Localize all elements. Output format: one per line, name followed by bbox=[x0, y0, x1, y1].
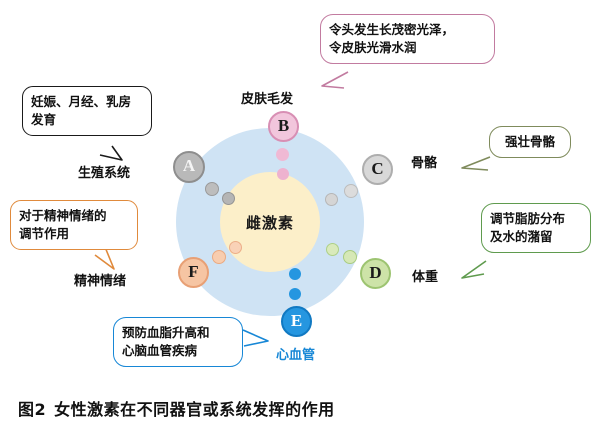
callout-bone[interactable]: 强壮骨骼 bbox=[489, 126, 571, 158]
callout-reproductive[interactable]: 妊娠、月经、乳房 发育 bbox=[22, 86, 152, 136]
node-f-dot-2 bbox=[229, 241, 242, 254]
callout-weight[interactable]: 调节脂肪分布 及水的潴留 bbox=[481, 203, 591, 253]
figure-number: 图2 bbox=[18, 400, 46, 419]
node-a-dot-1 bbox=[205, 182, 219, 196]
callout-skin-hair[interactable]: 令头发生长茂密光泽， 令皮肤光滑水润 bbox=[320, 14, 495, 64]
center-core: 雌激素 bbox=[220, 172, 320, 272]
node-c-dot-2 bbox=[325, 193, 338, 206]
node-d[interactable]: D bbox=[360, 258, 391, 289]
figure-caption-text: 女性激素在不同器官或系统发挥的作用 bbox=[54, 400, 335, 419]
node-c-dot-1 bbox=[344, 184, 358, 198]
node-d-dot-2 bbox=[326, 243, 339, 256]
figure-caption: 图2女性激素在不同器官或系统发挥的作用 bbox=[18, 396, 335, 420]
node-a[interactable]: A bbox=[173, 151, 205, 183]
node-c-letter: C bbox=[371, 159, 383, 179]
node-e-letter: E bbox=[291, 311, 302, 331]
node-d-letter: D bbox=[369, 263, 381, 283]
node-a-dot-2 bbox=[222, 192, 235, 205]
node-b-dot-1 bbox=[276, 148, 289, 161]
node-e-dot-1 bbox=[289, 288, 301, 300]
node-d-dot-1 bbox=[343, 250, 357, 264]
node-e[interactable]: E bbox=[281, 306, 312, 337]
node-b[interactable]: B bbox=[268, 111, 299, 142]
organ-label-mood: 精神情绪 bbox=[74, 270, 126, 289]
organ-label-reproductive: 生殖系统 bbox=[78, 162, 130, 181]
node-a-letter: A bbox=[183, 156, 195, 176]
node-e-dot-2 bbox=[289, 268, 301, 280]
node-c[interactable]: C bbox=[362, 154, 393, 185]
organ-label-bone: 骨骼 bbox=[411, 152, 437, 171]
figure-canvas: 雌激素 A B C D E F bbox=[0, 0, 600, 433]
node-f-dot-1 bbox=[212, 250, 226, 264]
center-label: 雌激素 bbox=[246, 212, 294, 233]
node-b-dot-2 bbox=[277, 168, 289, 180]
node-b-letter: B bbox=[278, 116, 289, 136]
organ-label-cardiovascular: 心血管 bbox=[276, 344, 315, 363]
callout-cardiovascular[interactable]: 预防血脂升高和 心脑血管疾病 bbox=[113, 317, 243, 367]
organ-label-weight: 体重 bbox=[412, 266, 438, 285]
organ-label-skin-hair: 皮肤毛发 bbox=[241, 88, 293, 107]
node-f-letter: F bbox=[188, 262, 198, 282]
node-f[interactable]: F bbox=[178, 257, 209, 288]
callout-mood[interactable]: 对于精神情绪的 调节作用 bbox=[10, 200, 138, 250]
